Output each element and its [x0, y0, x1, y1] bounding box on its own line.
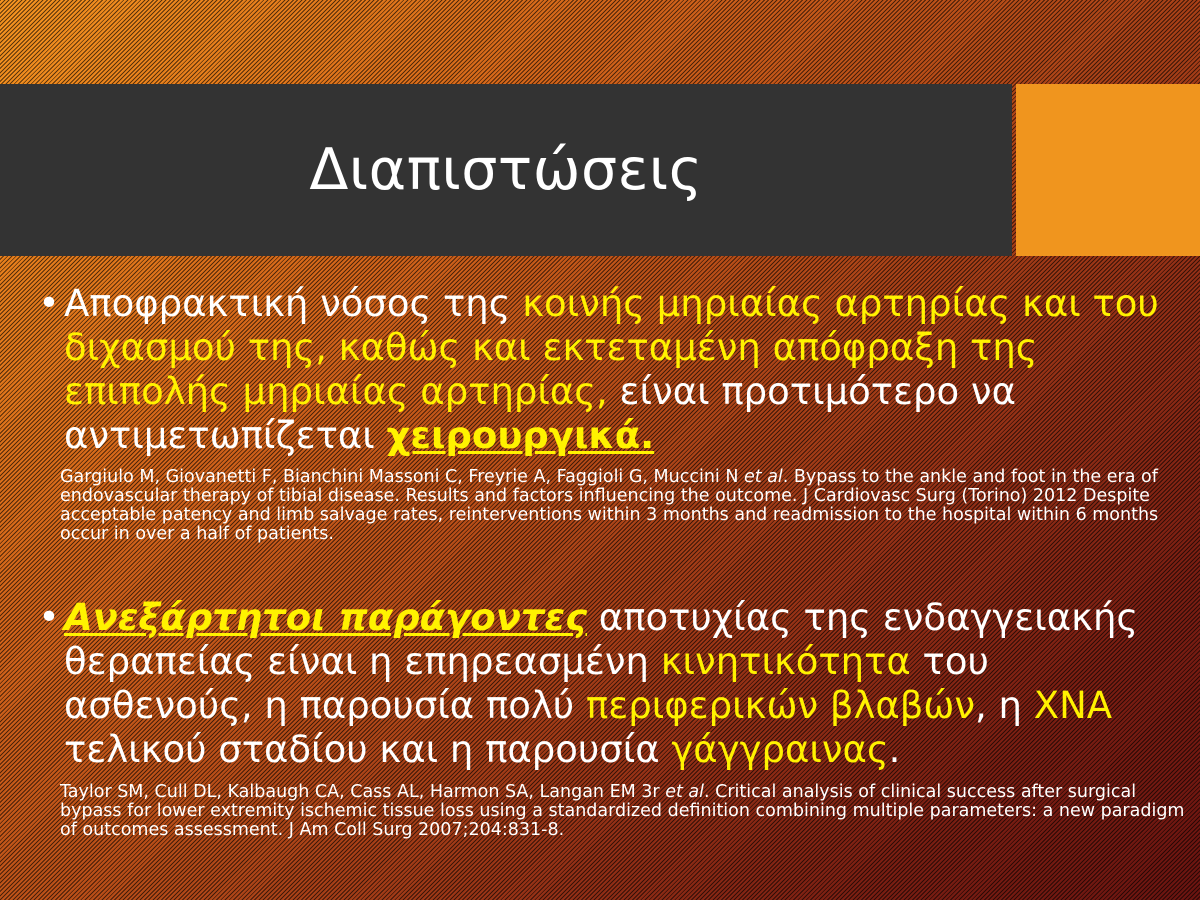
bullet-2-seg-5: , η	[975, 684, 1034, 727]
citation-2-authors: Taylor SM, Cull DL, Kalbaugh CA, Cass AL…	[60, 782, 665, 802]
bullet-2-body: Ανεξάρτητοι παράγοντες αποτυχίας της ενδ…	[64, 596, 1190, 772]
citation-1: Gargiulo M, Giovanetti F, Bianchini Mass…	[60, 468, 1200, 544]
slide-body: • Αποφρακτική νόσος της κοινής μηριαίας …	[0, 268, 1200, 900]
bullet-2-seg-8: γάγγραινας	[671, 728, 888, 771]
bullet-2-seg-9: .	[889, 728, 901, 771]
bullet-1-body: Αποφρακτική νόσος της κοινής μηριαίας αρ…	[64, 282, 1190, 458]
citation-2: Taylor SM, Cull DL, Kalbaugh CA, Cass AL…	[60, 783, 1200, 840]
citation-1-etal: et al	[744, 467, 783, 487]
bullet-2-seg-0: Ανεξάρτητοι παράγοντες	[64, 596, 587, 639]
accent-block	[1016, 84, 1200, 256]
citation-2-etal: et al	[665, 782, 704, 802]
title-band: Διαπιστώσεις	[0, 84, 1012, 256]
bullet-1-seg-0: Αποφρακτική νόσος της	[64, 282, 522, 325]
bullet-2-seg-4: περιφερικών βλαβών	[586, 684, 975, 727]
bullet-item-1: • Αποφρακτική νόσος της κοινής μηριαίας …	[30, 282, 1190, 458]
bullet-2-seg-6: ΧΝΑ	[1034, 684, 1112, 727]
bullet-marker-icon: •	[30, 596, 64, 640]
bullet-1-text: Αποφρακτική νόσος της κοινής μηριαίας αρ…	[64, 282, 1168, 458]
slide-canvas: Διαπιστώσεις • Αποφρακτική νόσος της κοι…	[0, 0, 1200, 900]
bullet-item-2: • Ανεξάρτητοι παράγοντες αποτυχίας της ε…	[30, 596, 1190, 772]
citation-1-authors: Gargiulo M, Giovanetti F, Bianchini Mass…	[60, 467, 744, 487]
bullet-1-seg-3: χειρουργικά.	[387, 414, 655, 457]
bullet-marker-icon: •	[30, 282, 64, 326]
bullet-2-seg-7: τελικού σταδίου και η παρουσία	[64, 728, 671, 771]
page-title: Διαπιστώσεις	[309, 142, 702, 199]
bullet-2-text: Ανεξάρτητοι παράγοντες αποτυχίας της ενδ…	[64, 596, 1168, 772]
bullet-2-seg-2: κινητικότητα	[661, 640, 911, 683]
